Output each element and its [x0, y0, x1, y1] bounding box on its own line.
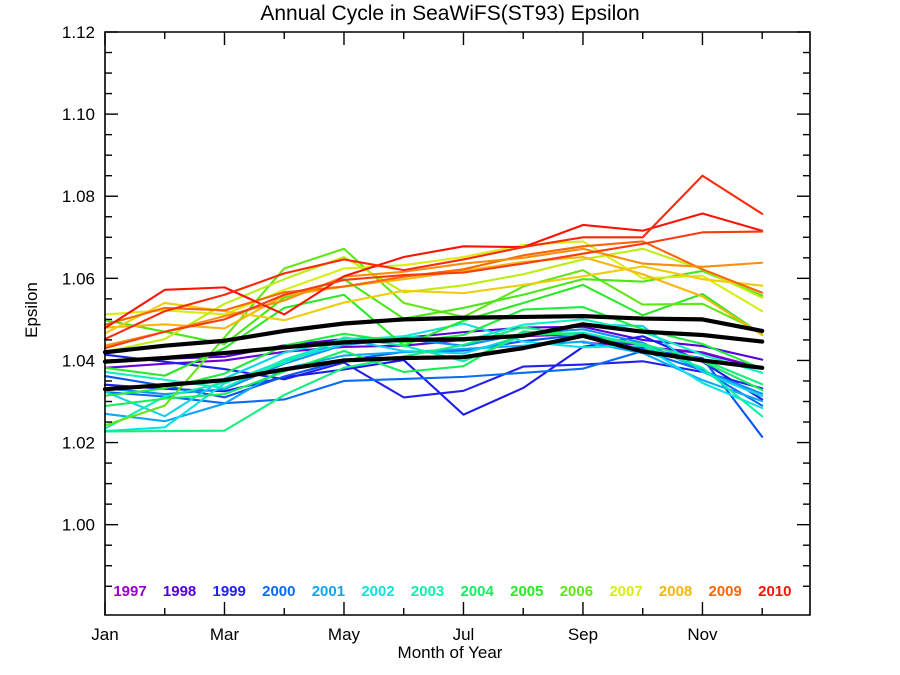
legend-item-2009: 2009 [709, 583, 742, 600]
x-tick-label: May [328, 625, 361, 644]
y-tick-label: 1.04 [62, 351, 95, 370]
x-tick-label: Jul [453, 625, 475, 644]
legend-item-2004: 2004 [461, 583, 495, 600]
series-layer [105, 176, 762, 437]
x-tick-labels: JanMarMayJulSepNov [91, 625, 718, 644]
legend-item-2003: 2003 [411, 583, 444, 600]
y-tick-label: 1.06 [62, 269, 95, 288]
legend-item-2000: 2000 [262, 583, 295, 600]
legend-item-1997: 1997 [113, 583, 146, 600]
legend-item-2001: 2001 [312, 583, 345, 600]
legend-item-1998: 1998 [163, 583, 196, 600]
x-tick-label: Mar [210, 625, 240, 644]
legend: 1997199819992000200120022003200420052006… [113, 583, 791, 600]
y-tick-labels: 1.001.021.041.061.081.101.12 [62, 23, 95, 535]
x-tick-label: Nov [687, 625, 718, 644]
line-chart-plot: 1.001.021.041.061.081.101.12 JanMarMayJu… [0, 0, 900, 675]
y-tick-label: 1.08 [62, 187, 95, 206]
series-line-2010b [105, 176, 762, 339]
legend-item-2005: 2005 [510, 583, 543, 600]
legend-item-1999: 1999 [213, 583, 246, 600]
legend-item-2002: 2002 [361, 583, 394, 600]
y-tick-label: 1.00 [62, 516, 95, 535]
chart-page: Annual Cycle in SeaWiFS(ST93) Epsilon Ep… [0, 0, 900, 675]
y-tick-label: 1.10 [62, 105, 95, 124]
legend-item-2007: 2007 [609, 583, 642, 600]
x-tick-label: Sep [568, 625, 598, 644]
y-tick-label: 1.02 [62, 434, 95, 453]
legend-item-2006: 2006 [560, 583, 593, 600]
x-tick-label: Jan [91, 625, 118, 644]
y-tick-label: 1.12 [62, 23, 95, 42]
legend-item-2008: 2008 [659, 583, 692, 600]
legend-item-2010: 2010 [758, 583, 791, 600]
